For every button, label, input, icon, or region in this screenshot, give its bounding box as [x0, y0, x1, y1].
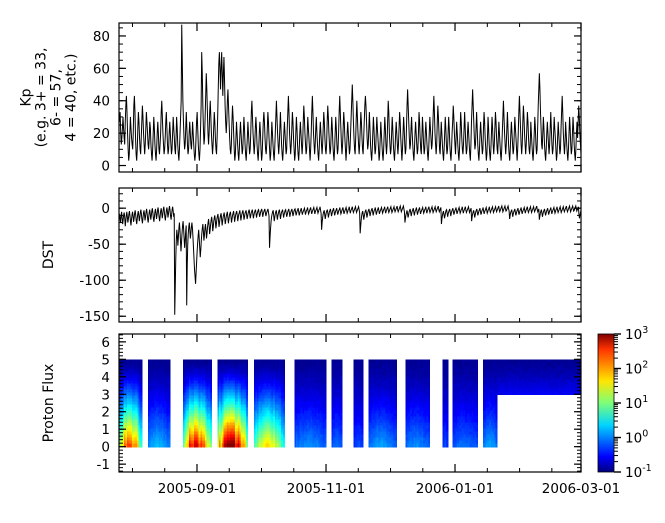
- dst-y-axis-label: DST: [41, 240, 57, 269]
- svg-text:40: 40: [93, 94, 110, 110]
- colorbar-gradient: [598, 334, 614, 472]
- svg-text:60: 60: [93, 61, 110, 77]
- svg-text:(e.g. 3+ = 33,: (e.g. 3+ = 33,: [34, 48, 50, 148]
- figure-canvas: 020406080 Kp(e.g. 3+ = 33,6- = 57,4 = 40…: [0, 0, 665, 523]
- svg-text:DST: DST: [41, 240, 57, 269]
- svg-text:-100: -100: [79, 273, 110, 289]
- svg-text:0: 0: [101, 201, 110, 217]
- proton-flux-y-axis-label: Proton Flux: [41, 364, 57, 443]
- plot-svg: 020406080 Kp(e.g. 3+ = 33,6- = 57,4 = 40…: [0, 0, 665, 523]
- svg-text:-50: -50: [88, 237, 110, 253]
- svg-text:6- = 57,: 6- = 57,: [49, 69, 65, 126]
- svg-text:20: 20: [93, 126, 110, 142]
- svg-text:0: 0: [101, 159, 110, 175]
- svg-text:4 = 40, etc.): 4 = 40, etc.): [64, 54, 80, 142]
- svg-text:Kp: Kp: [19, 88, 35, 106]
- svg-text:-150: -150: [79, 309, 110, 325]
- svg-text:80: 80: [93, 29, 110, 45]
